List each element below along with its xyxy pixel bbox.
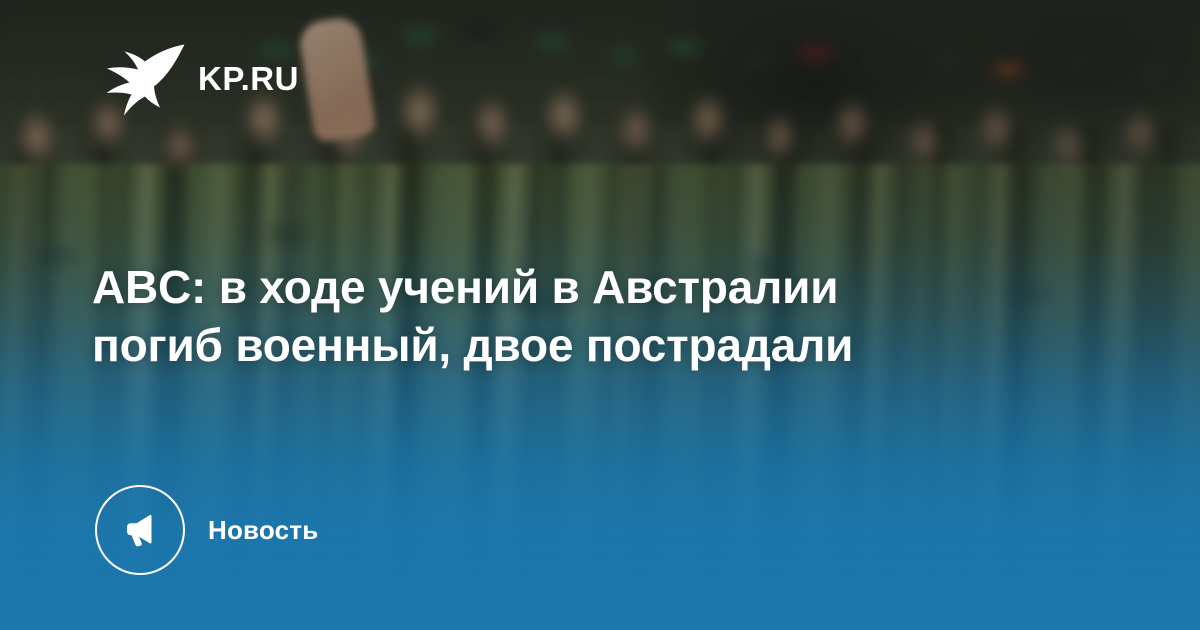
brand-logo[interactable]: KP.RU	[98, 36, 299, 121]
swallow-bird-icon	[98, 36, 186, 121]
headline: ABC: в ходе учений в Австралии погиб вое…	[92, 259, 1092, 375]
news-share-card: KP.RU ABC: в ходе учений в Австралии пог…	[0, 0, 1200, 630]
headline-line-2: погиб военный, двое пострадали	[92, 317, 1092, 375]
megaphone-icon	[95, 485, 185, 575]
headline-line-1: ABC: в ходе учений в Австралии	[92, 259, 1092, 317]
category-badge-label: Новость	[208, 517, 318, 543]
category-badge[interactable]: Новость	[95, 485, 318, 575]
brand-wordmark: KP.RU	[198, 62, 299, 95]
